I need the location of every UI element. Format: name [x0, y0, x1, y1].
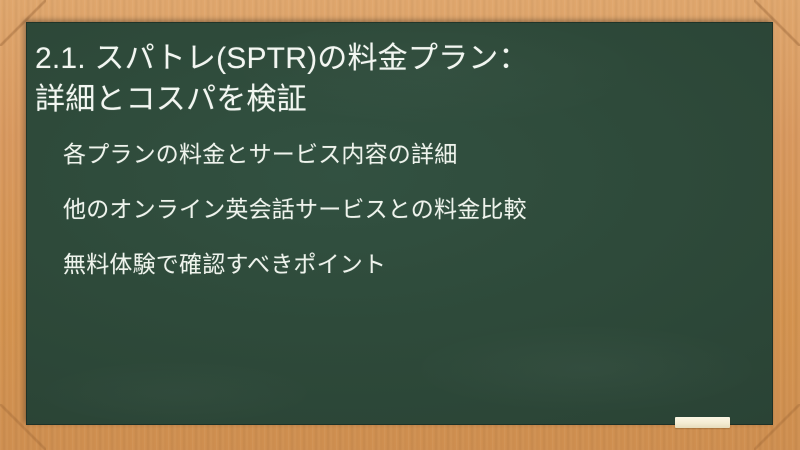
list-item: 各プランの料金とサービス内容の詳細: [63, 143, 749, 166]
slide-bullet-list: 各プランの料金とサービス内容の詳細 他のオンライン英会話サービスとの料金比較 無…: [35, 143, 749, 276]
chalkboard-surface: 2.1. スパトレ(SPTR)の料金プラン： 詳細とコスパを検証 各プランの料金…: [26, 22, 773, 425]
list-item: 他のオンライン英会話サービスとの料金比較: [63, 198, 749, 221]
chalk-stick-icon: [675, 417, 730, 428]
list-item: 無料体験で確認すべきポイント: [63, 253, 749, 276]
chalkboard-content: 2.1. スパトレ(SPTR)の料金プラン： 詳細とコスパを検証 各プランの料金…: [26, 22, 773, 425]
slide-screen: 2.1. スパトレ(SPTR)の料金プラン： 詳細とコスパを検証 各プランの料金…: [0, 0, 800, 450]
slide-title: 2.1. スパトレ(SPTR)の料金プラン： 詳細とコスパを検証: [35, 38, 749, 121]
